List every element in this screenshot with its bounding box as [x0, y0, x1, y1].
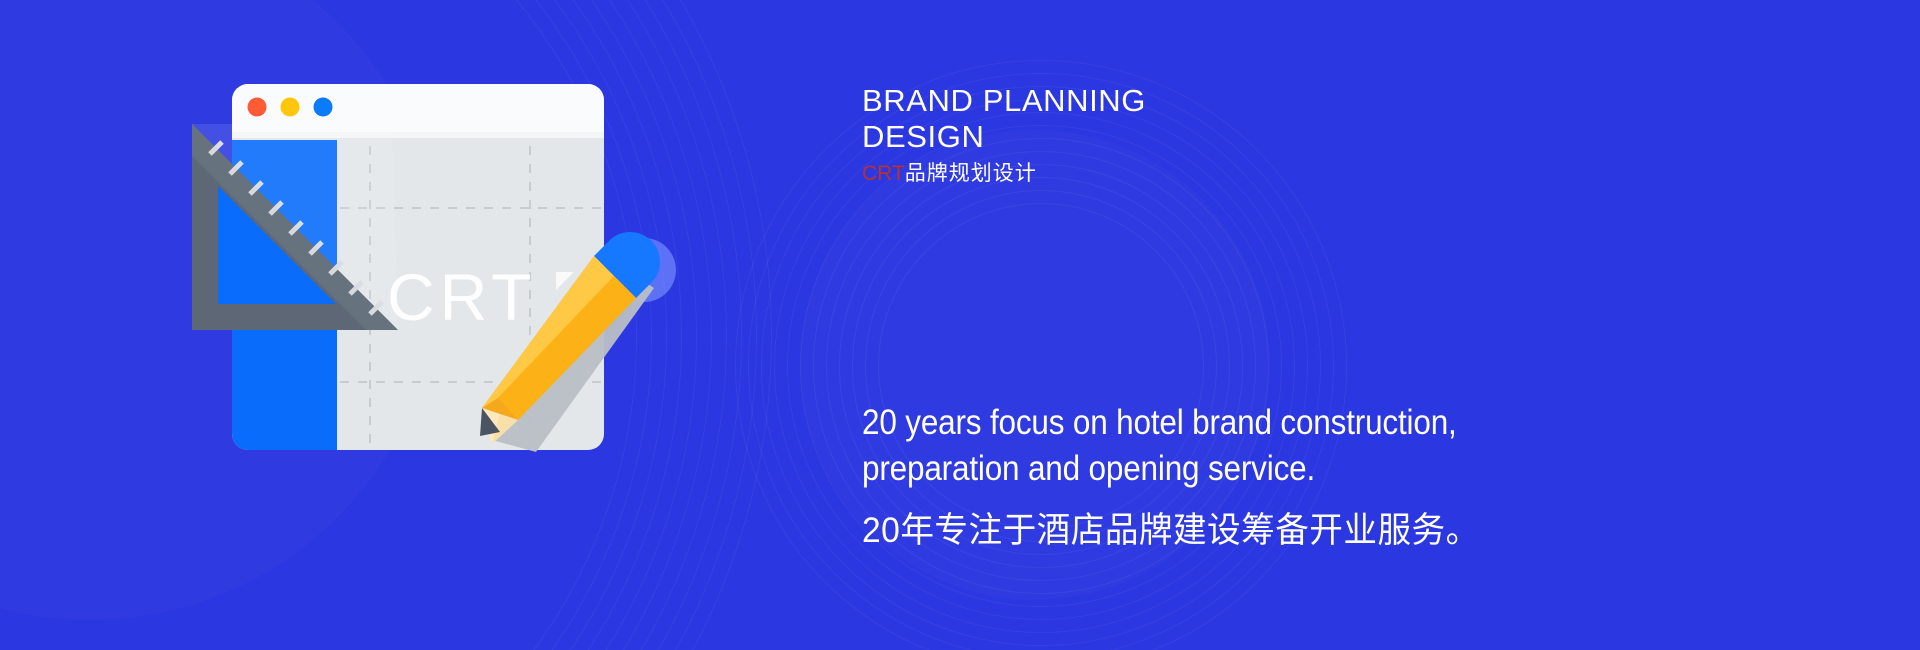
brand-illustration: CRT: [0, 0, 900, 650]
brand-mark-crt: CRT: [862, 162, 905, 185]
eyebrow-chinese-text: 品牌规划设计: [905, 162, 1037, 185]
svg-text:CRT: CRT: [387, 260, 536, 334]
eyebrow-chinese: CRT品牌规划设计: [862, 162, 1482, 186]
headline-chinese: 20年专注于酒店品牌建设筹备开业服务。: [862, 508, 1726, 554]
brand-banner: CRT: [0, 0, 1920, 650]
maximize-dot[interactable]: [314, 98, 333, 117]
eyebrow-block: BRAND PLANNING DESIGN CRT品牌规划设计: [862, 83, 1482, 186]
close-dot[interactable]: [248, 98, 267, 117]
triangle-ruler: [192, 124, 398, 330]
headline-english: 20 years focus on hotel brand constructi…: [862, 400, 1672, 492]
text-column: BRAND PLANNING DESIGN CRT品牌规划设计 20 years…: [862, 0, 1862, 650]
minimize-dot[interactable]: [281, 98, 300, 117]
eyebrow-english: BRAND PLANNING DESIGN: [862, 83, 1482, 155]
headline-block: 20 years focus on hotel brand constructi…: [862, 400, 1762, 554]
